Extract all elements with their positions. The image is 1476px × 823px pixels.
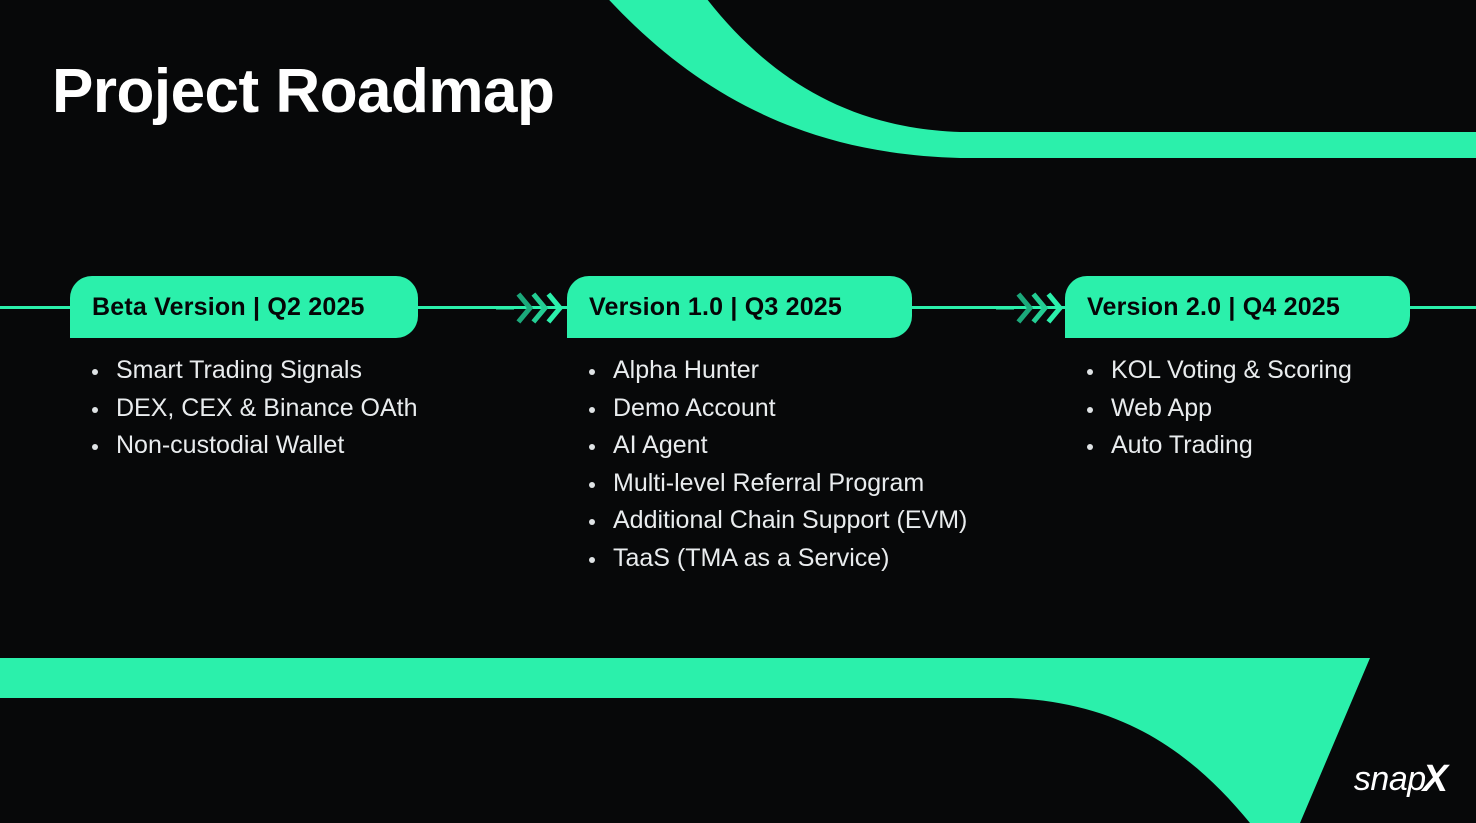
milestone-label-v2: Version 2.0 | Q4 2025 bbox=[1087, 293, 1340, 322]
milestone-column-v2: Version 2.0 | Q4 2025 KOL Voting & Scori… bbox=[1065, 276, 1410, 465]
milestone-card-beta[interactable]: Beta Version | Q2 2025 bbox=[70, 276, 418, 338]
milestone-feature-list-v1: Alpha Hunter Demo Account AI Agent Multi… bbox=[567, 352, 912, 577]
list-item: KOL Voting & Scoring bbox=[1079, 352, 1410, 390]
triple-chevron-right-icon bbox=[996, 288, 1072, 328]
triple-chevron-right-icon bbox=[496, 288, 572, 328]
milestone-feature-list-beta: Smart Trading Signals DEX, CEX & Binance… bbox=[70, 352, 418, 465]
milestone-card-v2[interactable]: Version 2.0 | Q4 2025 bbox=[1065, 276, 1410, 338]
milestone-card-v1[interactable]: Version 1.0 | Q3 2025 bbox=[567, 276, 912, 338]
roadmap-slide: Project Roadmap Beta Version | Q2 2025 S… bbox=[0, 0, 1476, 823]
list-item: Non-custodial Wallet bbox=[84, 427, 418, 465]
list-item: Web App bbox=[1079, 390, 1410, 428]
milestone-feature-list-v2: KOL Voting & Scoring Web App Auto Tradin… bbox=[1065, 352, 1410, 465]
list-item: Auto Trading bbox=[1079, 427, 1410, 465]
logo-wordmark: snap bbox=[1354, 760, 1426, 799]
list-item: TaaS (TMA as a Service) bbox=[581, 540, 912, 578]
list-item: AI Agent bbox=[581, 427, 912, 465]
milestone-label-v1: Version 1.0 | Q3 2025 bbox=[589, 293, 842, 322]
milestone-column-beta: Beta Version | Q2 2025 Smart Trading Sig… bbox=[70, 276, 418, 465]
page-title: Project Roadmap bbox=[52, 58, 554, 126]
list-item: Multi-level Referral Program bbox=[581, 465, 912, 503]
milestone-column-v1: Version 1.0 | Q3 2025 Alpha Hunter Demo … bbox=[567, 276, 912, 577]
logo-x-mark: X bbox=[1423, 758, 1448, 801]
bottom-green-wedge-decoration bbox=[0, 640, 1476, 823]
list-item: DEX, CEX & Binance OAth bbox=[84, 390, 418, 428]
list-item: Alpha Hunter bbox=[581, 352, 912, 390]
list-item: Smart Trading Signals bbox=[84, 352, 418, 390]
milestone-label-beta: Beta Version | Q2 2025 bbox=[92, 293, 365, 322]
list-item: Demo Account bbox=[581, 390, 912, 428]
brand-logo: snap X bbox=[1354, 758, 1448, 801]
list-item: Additional Chain Support (EVM) bbox=[581, 502, 912, 540]
